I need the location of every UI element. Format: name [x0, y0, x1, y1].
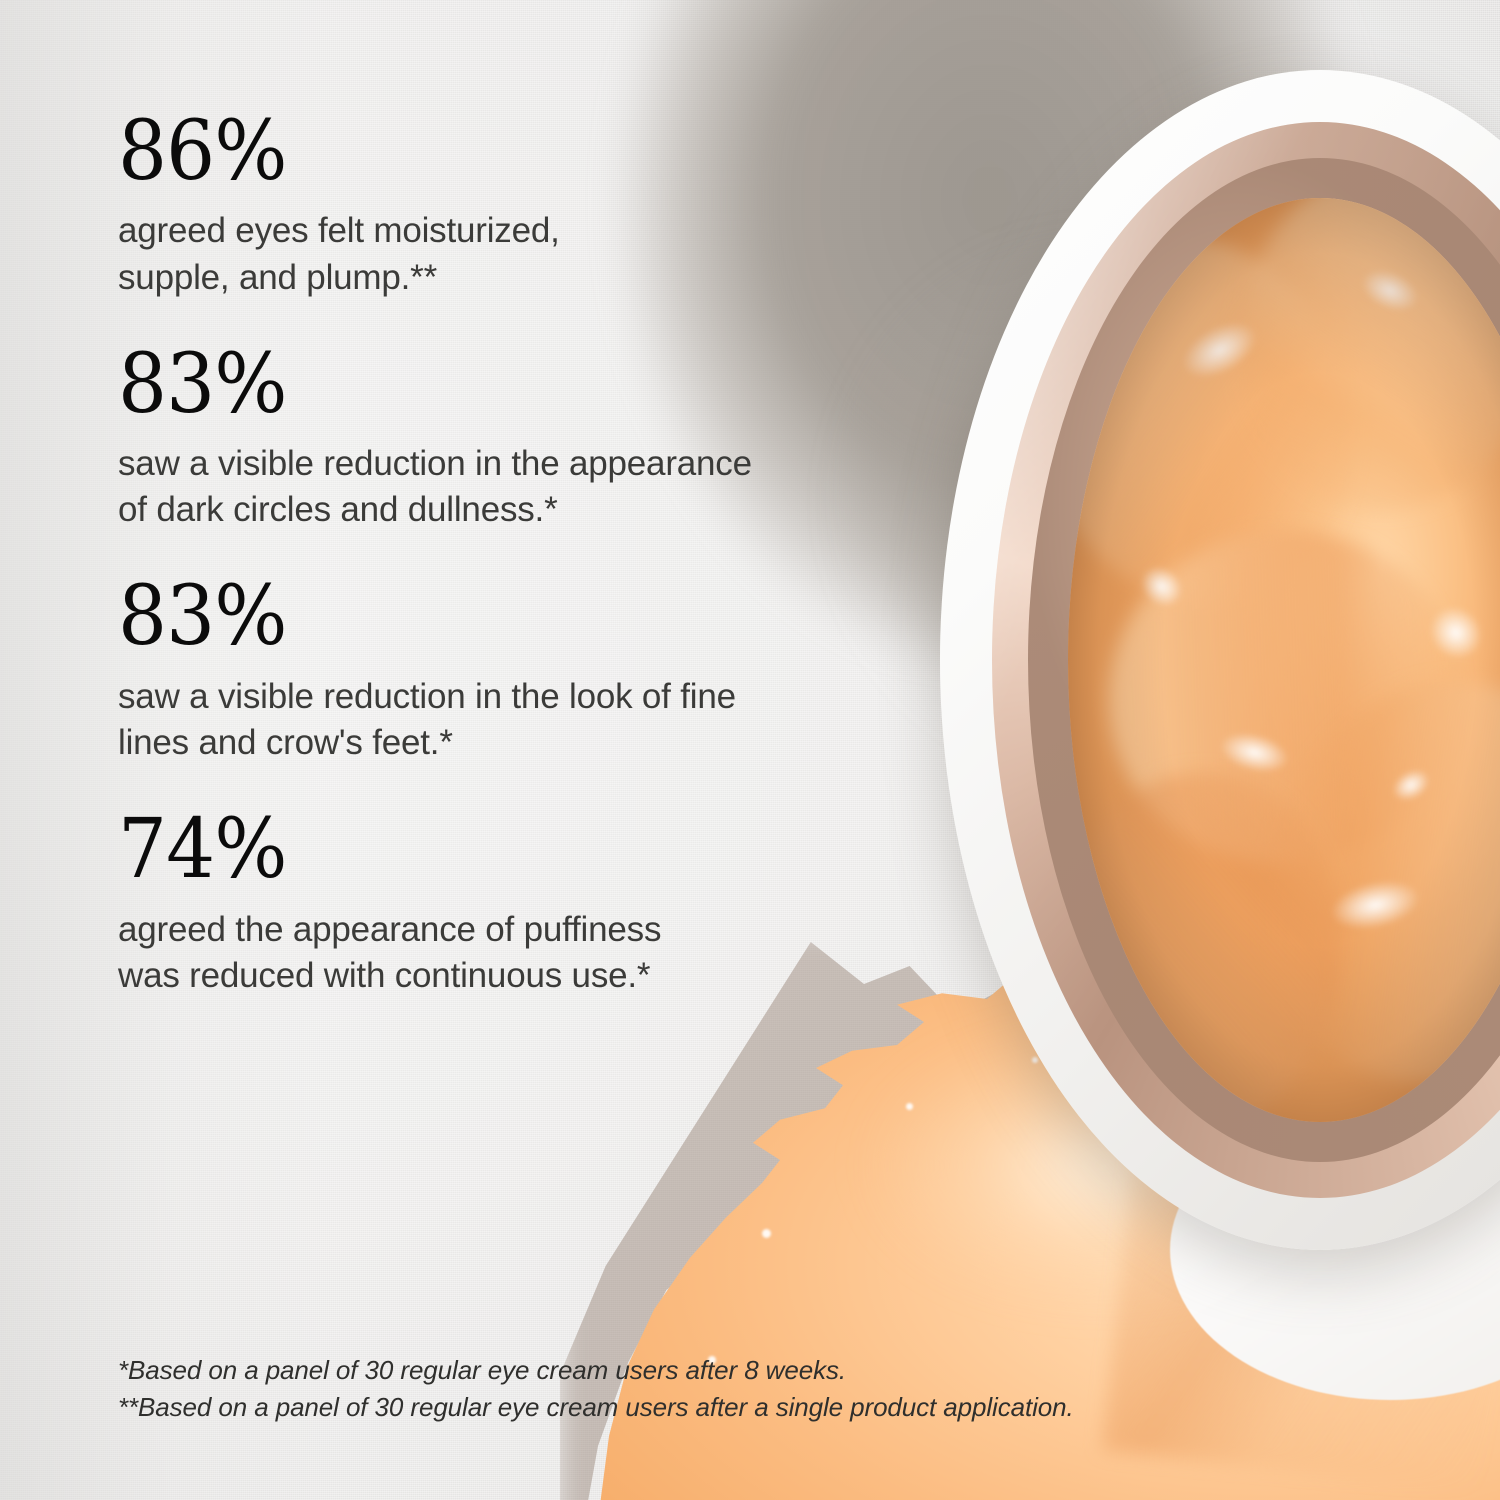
jar-cream-surface	[1068, 198, 1500, 1122]
footnote-single-asterisk: *Based on a panel of 30 regular eye crea…	[118, 1352, 1178, 1389]
footnote-double-asterisk: **Based on a panel of 30 regular eye cre…	[118, 1389, 1178, 1426]
statistics-list: 86% agreed eyes felt moisturized, supple…	[118, 112, 908, 999]
statistic-description: saw a visible reduction in the look of f…	[118, 674, 908, 766]
statistic-description: saw a visible reduction in the appearanc…	[118, 441, 908, 533]
statistic-item: 83% saw a visible reduction in the look …	[118, 577, 908, 766]
statistic-item: 83% saw a visible reduction in the appea…	[118, 345, 908, 534]
footnotes-block: *Based on a panel of 30 regular eye crea…	[118, 1352, 1178, 1426]
cream-sparkle	[906, 1103, 913, 1110]
product-claims-graphic: 86% agreed eyes felt moisturized, supple…	[0, 0, 1500, 1500]
statistic-item: 74% agreed the appearance of puffiness w…	[118, 810, 908, 999]
statistic-value: 86%	[118, 112, 861, 192]
statistic-description: agreed eyes felt moisturized, supple, an…	[118, 208, 908, 300]
statistic-value: 83%	[118, 577, 861, 657]
statistic-description: agreed the appearance of puffiness was r…	[118, 907, 908, 999]
cream-sparkle	[762, 1229, 771, 1238]
product-jar	[940, 70, 1500, 1250]
statistic-value: 74%	[118, 810, 861, 890]
statistic-value: 83%	[118, 345, 861, 425]
statistic-item: 86% agreed eyes felt moisturized, supple…	[118, 112, 908, 301]
